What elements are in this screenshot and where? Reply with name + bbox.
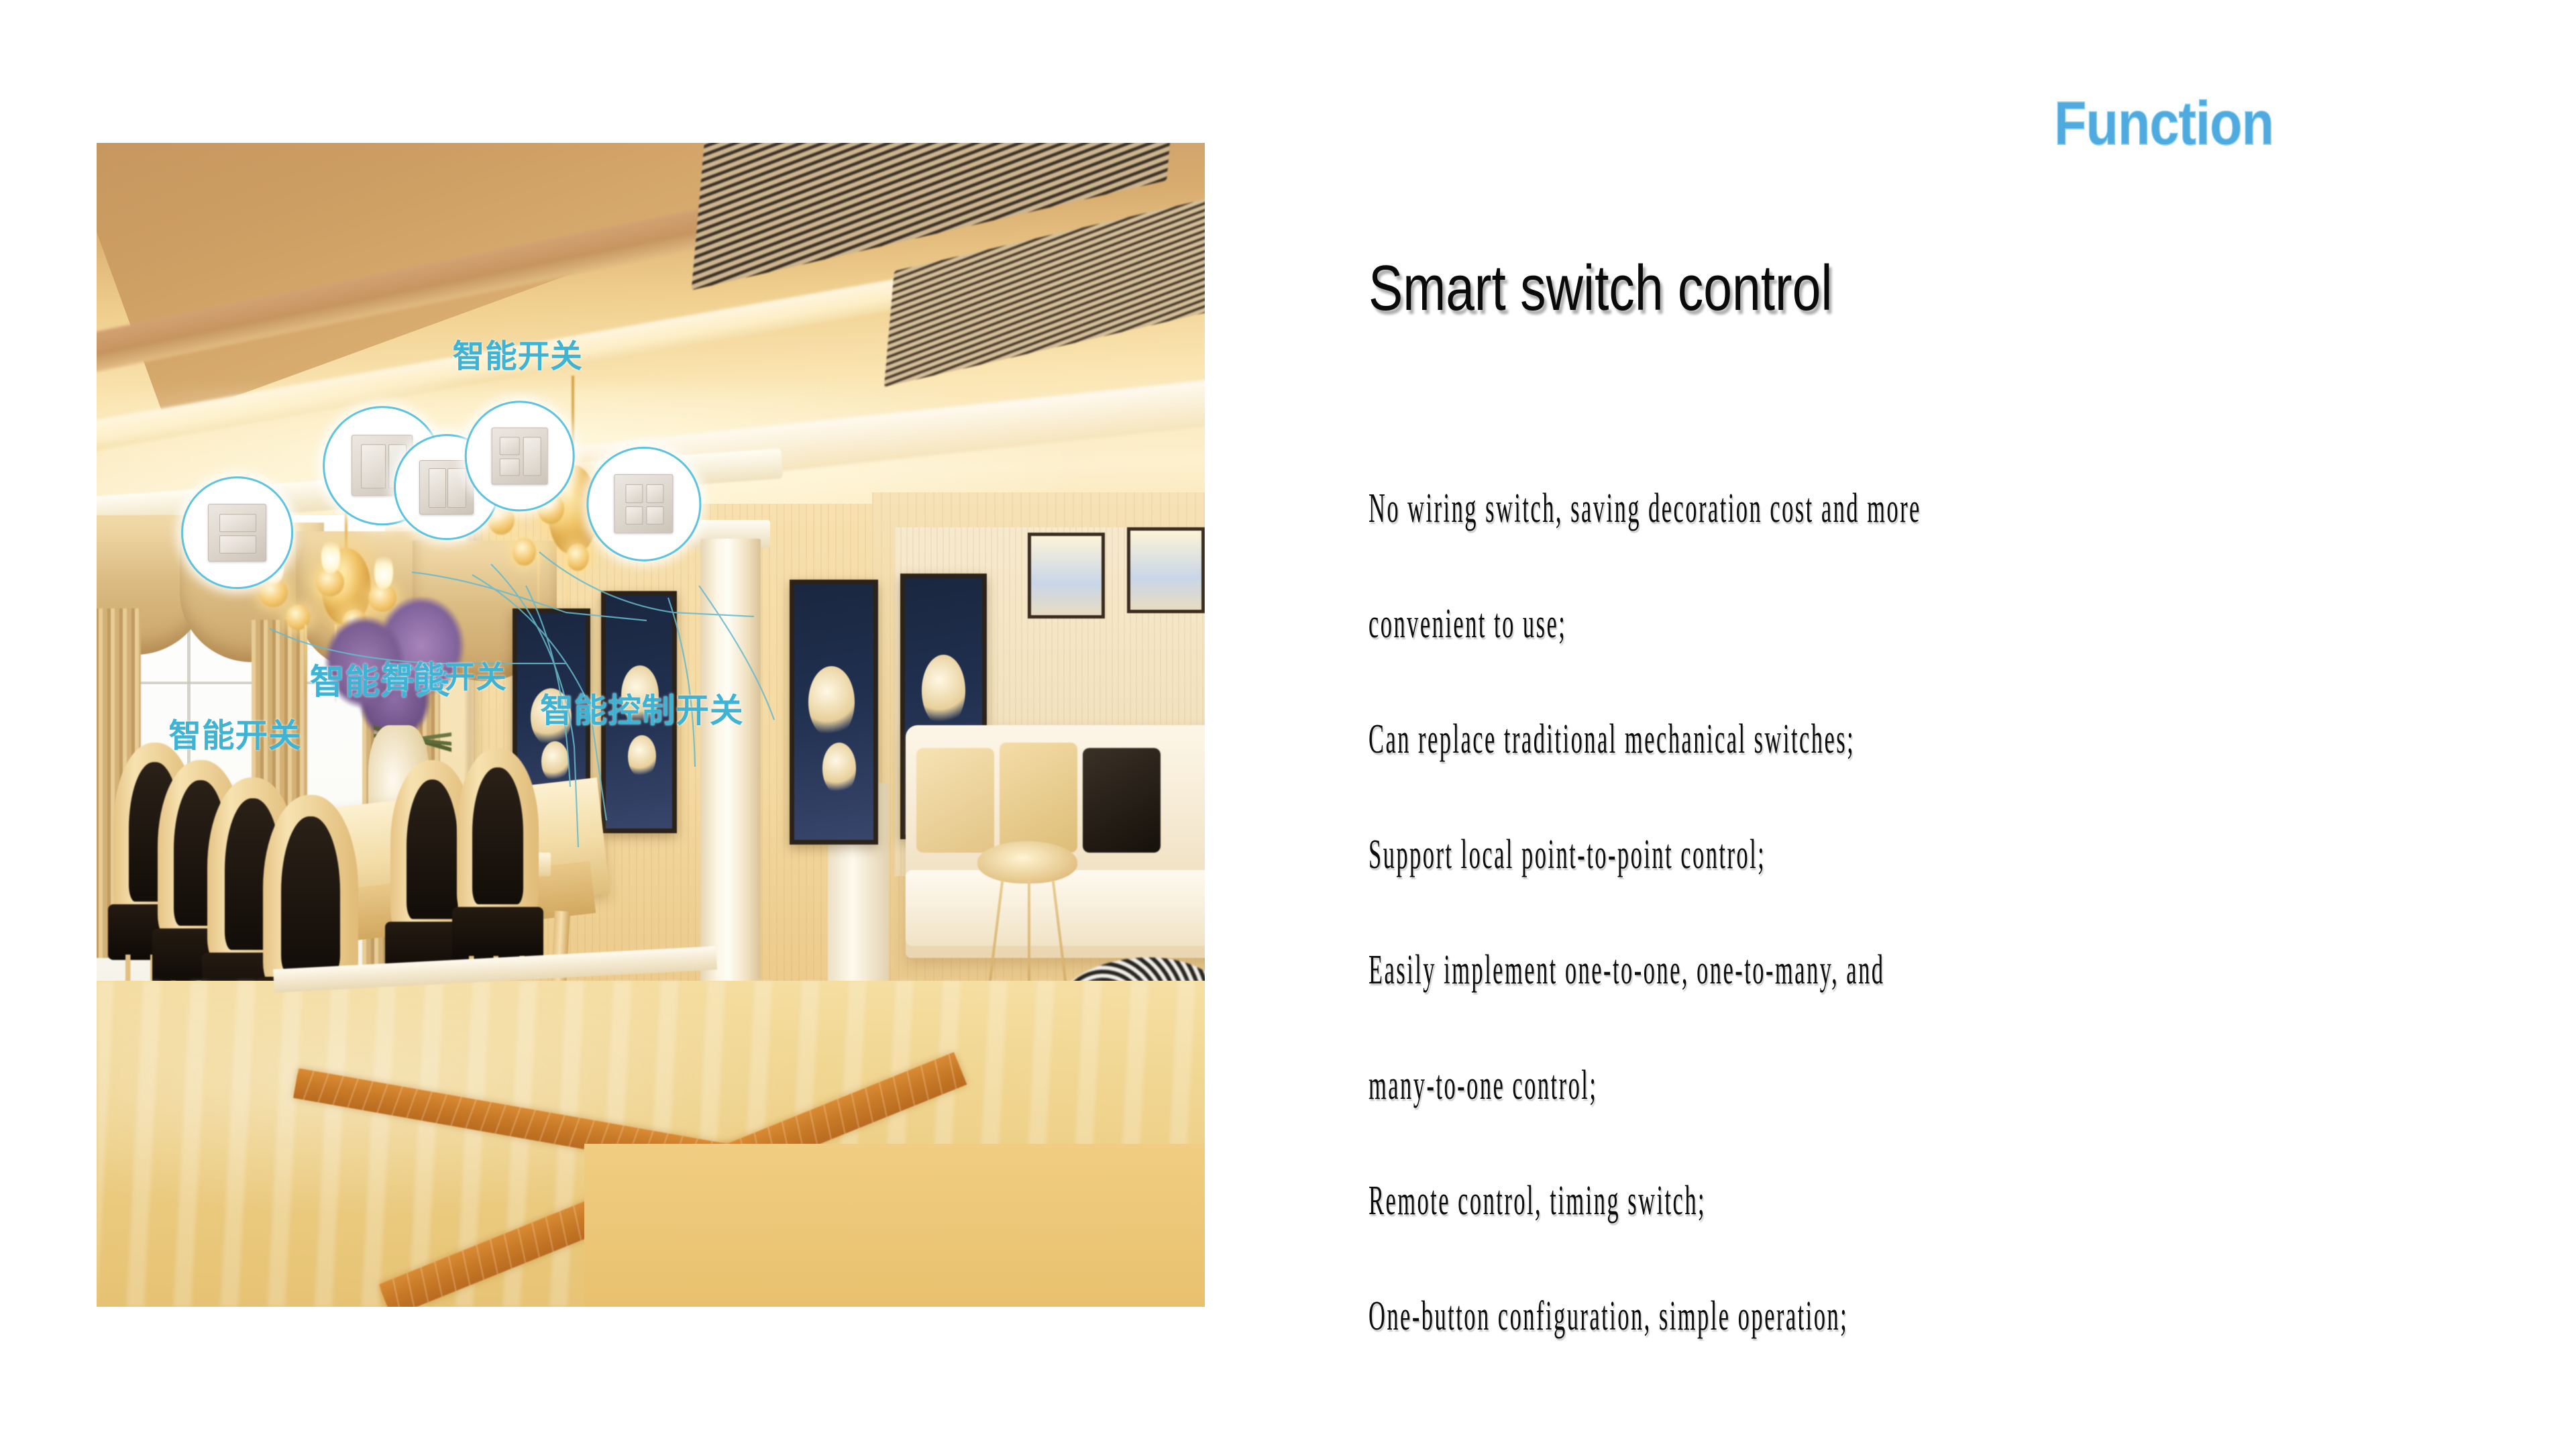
floor-outer-field [584,1144,1205,1307]
feature-list: No wiring switch, saving decoration cost… [1368,451,2569,1374]
sofa-cushion [1083,748,1161,853]
switch-callout: 智能开关 [181,476,290,694]
feature-line: Can replace traditional mechanical switc… [1368,682,2035,797]
switch-key [646,484,663,503]
framed-artwork [790,580,879,845]
feature-line: Remote control, timing switch; [1368,1143,2035,1258]
feature-line: No wiring switch, saving decoration cost… [1368,451,2035,566]
feature-line: many-to-one control; [1368,1028,2035,1143]
switch-callout: 智能控制开关 [586,446,697,667]
feature-line: One-button configuration, simple operati… [1368,1258,2035,1374]
smart-switch-panel-icon [492,428,548,484]
sofa-cushion [916,748,994,853]
switch-key [447,468,466,508]
smart-switch-panel-icon [614,474,674,533]
function-eyebrow-title: Function [2054,93,2273,154]
switch-key [361,444,386,488]
callout-ring [181,476,294,589]
feature-line: convenient to use; [1368,566,2035,682]
feature-line: Support local point-to-point control; [1368,797,2035,912]
switch-key [625,506,643,525]
switch-key [219,535,257,553]
callout-ring [464,400,575,511]
switch-key [523,437,541,476]
callout-label: 智能开关 [168,709,301,756]
framed-artwork-small [1127,527,1205,613]
switch-key [625,484,643,503]
switch-callout: 智能开关 [464,400,571,613]
interior-photo: 智能开关智能开关智能开关智能开关智能控制开关 [97,143,1205,1307]
slide-root: 智能开关智能开关智能开关智能开关智能控制开关 Function Smart sw… [0,0,2576,1449]
side-table [977,841,1077,1004]
callout-label: 智能开关 [382,653,507,697]
page-title: Smart switch control [1368,255,1832,323]
callout-label: 智能控制开关 [540,684,743,732]
switch-key [646,506,663,525]
smart-switch-panel-icon [208,504,266,561]
callout-ring [586,446,701,561]
framed-artwork-small [1028,533,1106,619]
feature-line: Easily implement one-to-one, one-to-many… [1368,912,2035,1028]
sofa-cushion [1000,743,1077,853]
switch-key [500,458,520,476]
callout-label: 智能开关 [453,330,583,376]
switch-key [429,468,446,508]
switch-key [219,514,257,532]
switch-key [500,437,520,455]
